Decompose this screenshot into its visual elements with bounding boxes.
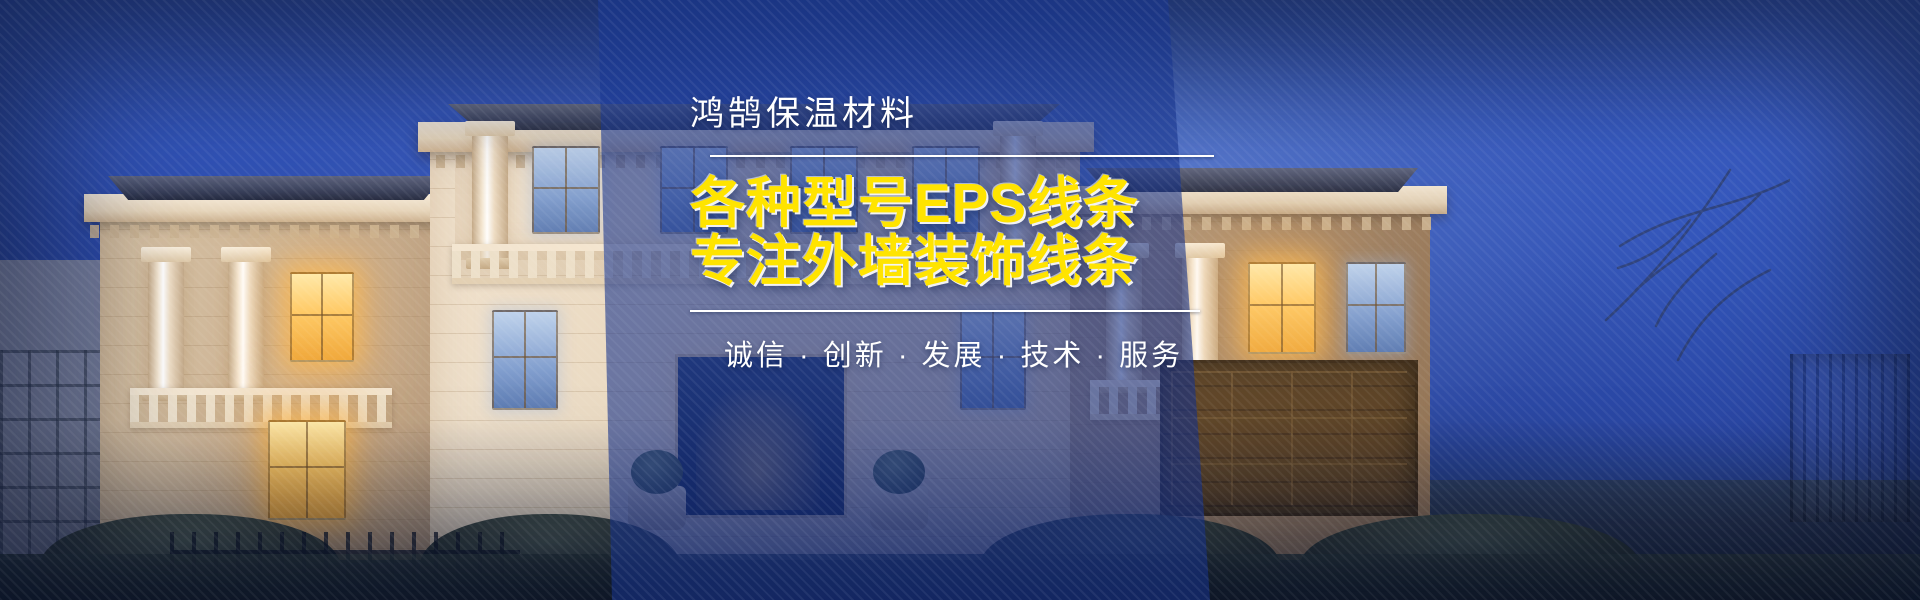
divider-top (710, 155, 1214, 157)
tagline: 诚信 · 创新 · 发展 · 技术 · 服务 (724, 332, 1230, 374)
banner-copy: 鸿鹄保温材料 各种型号EPS线条 专注外墙装饰线条 诚信 · 创新 · 发展 ·… (690, 96, 1230, 374)
headline-block: 各种型号EPS线条 专注外墙装饰线条 (690, 175, 1230, 289)
promo-banner: 鸿鹄保温材料 各种型号EPS线条 专注外墙装饰线条 诚信 · 创新 · 发展 ·… (0, 0, 1920, 600)
divider-bottom (690, 310, 1200, 312)
headline-line-2: 专注外墙装饰线条 (690, 233, 1230, 290)
headline-line-1: 各种型号EPS线条 (690, 175, 1230, 232)
company-name: 鸿鹄保温材料 (690, 96, 1230, 133)
